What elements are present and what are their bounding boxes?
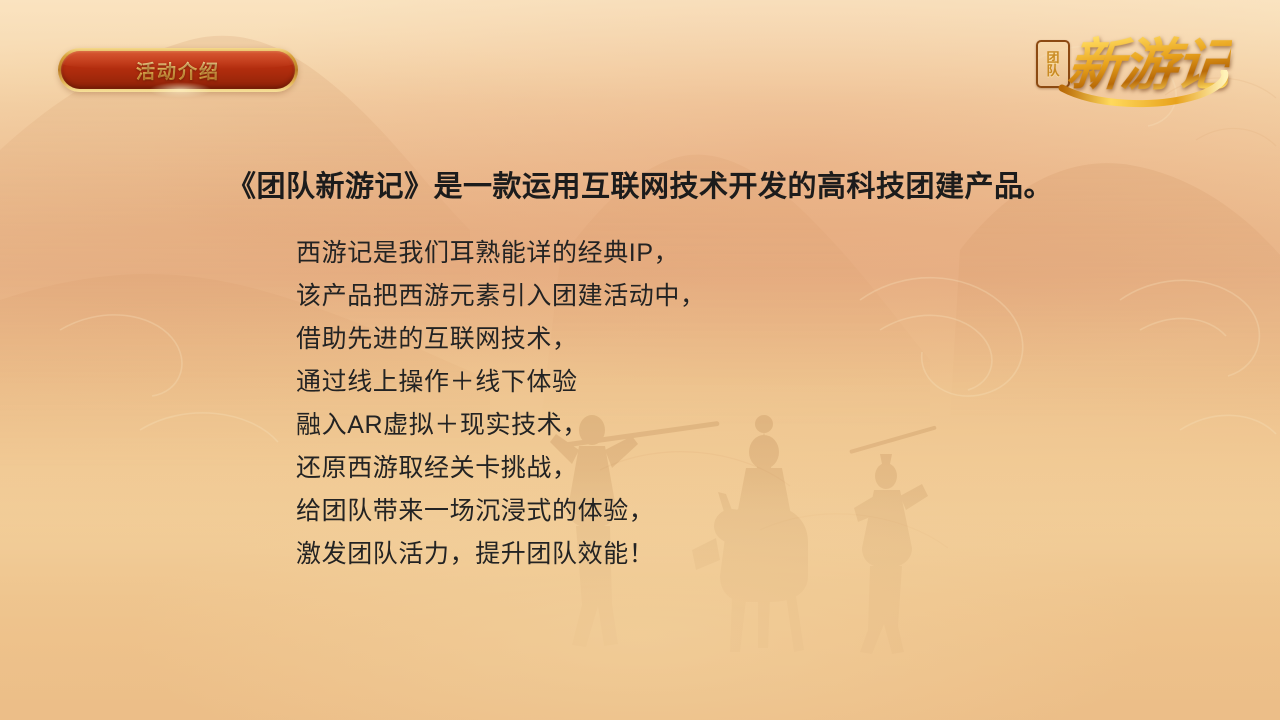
description-line: 西游记是我们耳熟能详的经典IP， [296,232,996,275]
description-line: 融入AR虚拟＋现实技术， [296,404,996,447]
description-line: 激发团队活力，提升团队效能！ [296,533,996,576]
section-badge-inner: 活动介绍 [61,51,295,89]
slide-canvas: 活动介绍 团 队 新游记 《团队新游记》是一款运用互联网技术开发的高科技团建产品… [0,0,1280,720]
description-line: 还原西游取经关卡挑战， [296,447,996,490]
seal-char-bottom: 队 [1046,64,1059,77]
section-badge[interactable]: 活动介绍 [58,48,298,92]
description-line: 通过线上操作＋线下体验 [296,361,996,404]
description-line: 借助先进的互联网技术， [296,318,996,361]
page-title: 《团队新游记》是一款运用互联网技术开发的高科技团建产品。 [0,163,1280,205]
description-block: 西游记是我们耳熟能详的经典IP， 该产品把西游元素引入团建活动中， 借助先进的互… [296,232,996,576]
brand-logo-title: 新游记 [1064,20,1235,101]
description-line: 给团队带来一场沉浸式的体验， [296,490,996,533]
brand-logo[interactable]: 团 队 新游记 [1018,14,1254,110]
section-badge-label: 活动介绍 [136,57,220,84]
description-line: 该产品把西游元素引入团建活动中， [296,275,996,318]
